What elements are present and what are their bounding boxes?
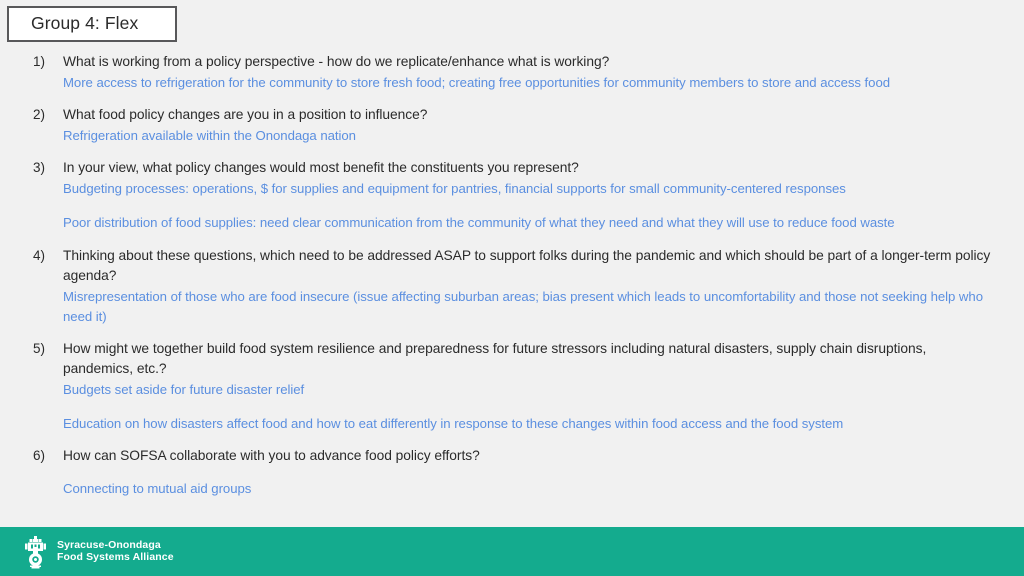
question-number: 6): [33, 446, 45, 467]
answer-text: More access to refrigeration for the com…: [63, 73, 996, 94]
organization-name: Syracuse-Onondaga Food Systems Alliance: [57, 540, 174, 563]
list-item: 1) What is working from a policy perspec…: [0, 52, 996, 93]
question-text: What is working from a policy perspectiv…: [63, 52, 996, 73]
list-item: 5) How might we together build food syst…: [0, 339, 996, 435]
answer-text: Education on how disasters affect food a…: [63, 414, 996, 435]
answer-text: Misrepresentation of those who are food …: [63, 287, 996, 328]
slide-title-box: Group 4: Flex: [7, 6, 177, 42]
answer-text: Poor distribution of food supplies: need…: [63, 213, 996, 234]
question-number: 3): [33, 158, 45, 179]
list-item: 2) What food policy changes are you in a…: [0, 105, 996, 146]
question-number: 1): [33, 52, 45, 73]
list-item: 4) Thinking about these questions, which…: [0, 246, 996, 328]
sofsa-seal-logo-icon: [22, 535, 49, 569]
question-number: 5): [33, 339, 45, 360]
question-number: 4): [33, 246, 45, 267]
question-text: Thinking about these questions, which ne…: [63, 246, 996, 287]
answer-text: Refrigeration available within the Onond…: [63, 126, 996, 147]
questions-list: 1) What is working from a policy perspec…: [0, 52, 1024, 520]
answer-text: Budgeting processes: operations, $ for s…: [63, 179, 996, 200]
organization-line-1: Syracuse-Onondaga: [57, 540, 174, 551]
page-title: Group 4: Flex: [31, 13, 153, 33]
list-item: 3) In your view, what policy changes wou…: [0, 158, 996, 234]
question-text: In your view, what policy changes would …: [63, 158, 996, 179]
list-item: 6) How can SOFSA collaborate with you to…: [0, 446, 996, 500]
answer-text: Connecting to mutual aid groups: [63, 479, 996, 500]
organization-line-2: Food Systems Alliance: [57, 552, 174, 563]
footer-bar: Syracuse-Onondaga Food Systems Alliance: [0, 527, 1024, 576]
question-text: How might we together build food system …: [63, 339, 996, 380]
answer-text: Budgets set aside for future disaster re…: [63, 380, 996, 401]
question-text: What food policy changes are you in a po…: [63, 105, 996, 126]
question-text: How can SOFSA collaborate with you to ad…: [63, 446, 996, 467]
question-number: 2): [33, 105, 45, 126]
